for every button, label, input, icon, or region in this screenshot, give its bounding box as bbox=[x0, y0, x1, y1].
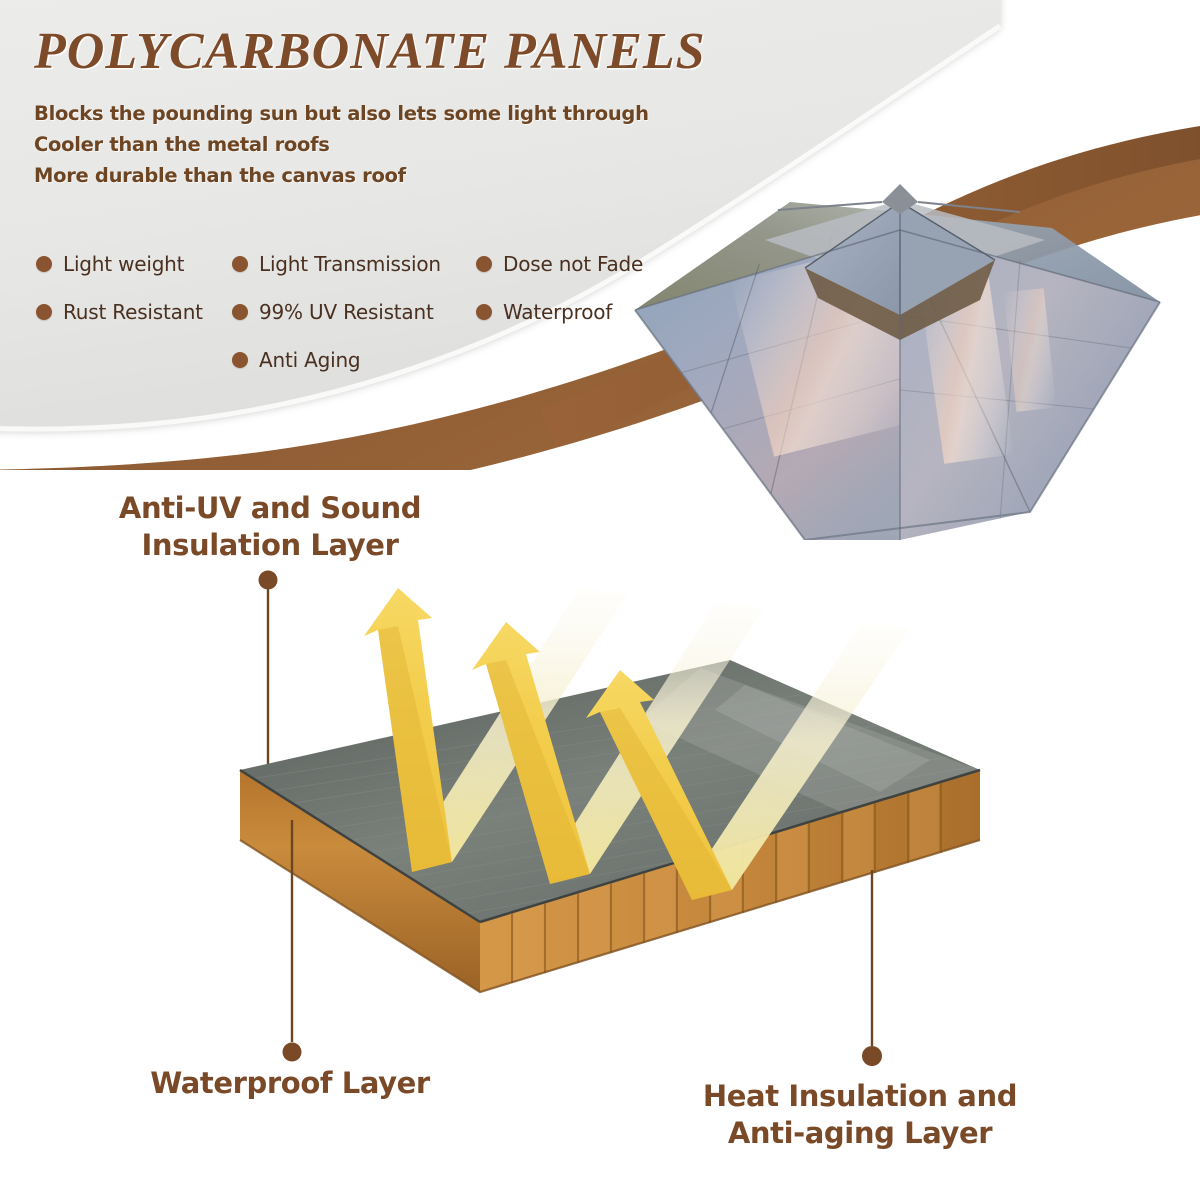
feature-label: 99% UV Resistant bbox=[259, 300, 434, 324]
callout-leader-top bbox=[259, 571, 278, 771]
feature-label: Anti Aging bbox=[259, 348, 360, 372]
feature-item-light-weight: Light weight bbox=[36, 240, 232, 288]
feature-label: Light Transmission bbox=[259, 252, 441, 276]
dot-bullet-icon bbox=[36, 304, 52, 320]
feature-label: Rust Resistant bbox=[63, 300, 203, 324]
feature-item-uv-resistant: 99% UV Resistant bbox=[232, 288, 476, 336]
dot-bullet-icon bbox=[476, 256, 492, 272]
hero-subline-1: Blocks the pounding sun but also lets so… bbox=[34, 98, 714, 129]
dot-bullet-icon bbox=[232, 352, 248, 368]
feature-row: Anti Aging bbox=[36, 336, 676, 384]
feature-item-rust-resistant: Rust Resistant bbox=[36, 288, 232, 336]
feature-row: Rust Resistant 99% UV Resistant Waterpro… bbox=[36, 288, 676, 336]
feature-item-anti-aging: Anti Aging bbox=[232, 336, 476, 384]
feature-label: Waterproof bbox=[503, 300, 612, 324]
dot-bullet-icon bbox=[476, 304, 492, 320]
callout-waterproof-layer: Waterproof Layer bbox=[90, 1065, 490, 1102]
dot-bullet-icon bbox=[232, 304, 248, 320]
callout-heat-insulation-anti-aging-layer: Heat Insulation and Anti-aging Layer bbox=[620, 1078, 1100, 1152]
callout-anti-uv-sound-insulation-layer: Anti-UV and Sound Insulation Layer bbox=[20, 490, 520, 564]
feature-label: Light weight bbox=[63, 252, 184, 276]
feature-item-light-transmission: Light Transmission bbox=[232, 240, 476, 288]
infographic-canvas: POLYCARBONATE PANELS Blocks the pounding… bbox=[0, 0, 1200, 1200]
page-title: POLYCARBONATE PANELS bbox=[34, 22, 706, 81]
callout-leader-heat bbox=[862, 870, 882, 1066]
dot-bullet-icon bbox=[36, 256, 52, 272]
feature-list: Light weight Light Transmission Dose not… bbox=[36, 240, 676, 384]
dot-bullet-icon bbox=[232, 256, 248, 272]
feature-row: Light weight Light Transmission Dose not… bbox=[36, 240, 676, 288]
